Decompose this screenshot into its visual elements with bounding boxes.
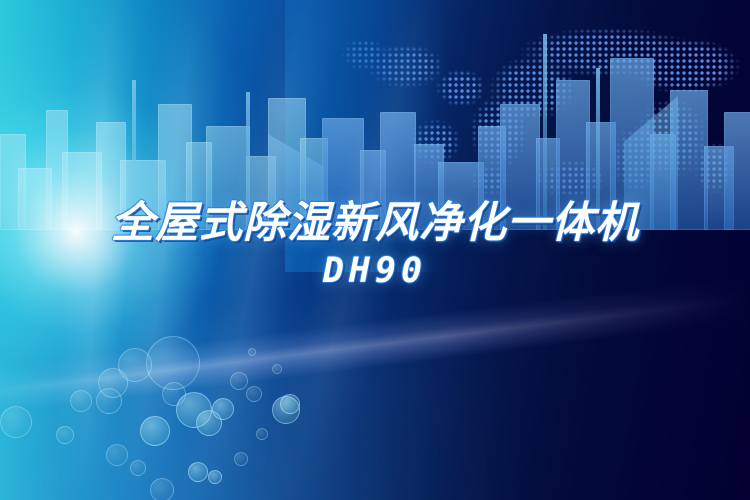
bubble	[234, 452, 248, 466]
bubble	[96, 388, 122, 414]
bubble	[272, 396, 300, 424]
bottom-haze-overlay	[0, 300, 750, 500]
bubble	[98, 368, 128, 398]
product-title: 全屋式除湿新风净化一体机	[0, 198, 750, 248]
bubble	[280, 394, 300, 414]
bubble	[256, 428, 268, 440]
city-skyline	[0, 0, 750, 230]
bubble	[248, 348, 256, 356]
bubble	[246, 386, 262, 402]
bubble	[208, 470, 222, 484]
product-poster: 全屋式除湿新风净化一体机 DH90	[0, 0, 750, 500]
bubble	[106, 444, 128, 466]
bubble	[70, 390, 92, 412]
bubble	[212, 398, 234, 420]
product-model-number: DH90	[0, 252, 750, 290]
bubble	[130, 460, 146, 476]
bubble	[196, 410, 222, 436]
bubble	[118, 348, 152, 382]
bubble	[176, 392, 212, 428]
bubble	[150, 478, 174, 500]
bubble	[146, 336, 200, 390]
headline-block: 全屋式除湿新风净化一体机 DH90	[0, 198, 750, 290]
diagonal-light-streak	[0, 280, 750, 410]
bubble	[162, 382, 186, 406]
bubble	[140, 416, 170, 446]
bubble	[56, 426, 74, 444]
bubble	[272, 364, 282, 374]
bubble	[188, 462, 208, 482]
bubble	[230, 372, 248, 390]
bubble	[0, 406, 32, 438]
